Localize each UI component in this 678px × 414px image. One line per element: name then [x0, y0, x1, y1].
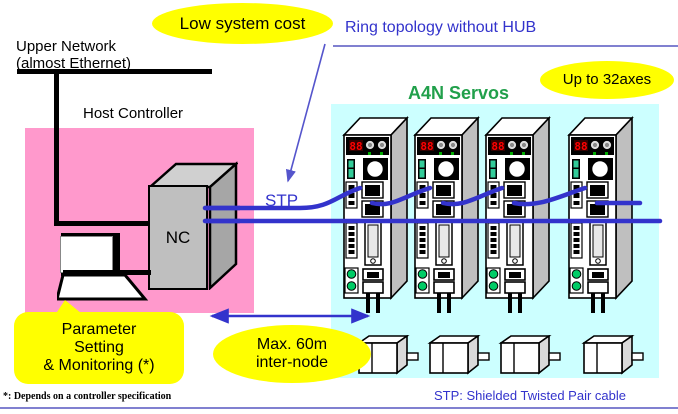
upper-network-drop-line [54, 69, 59, 226]
callout-parameter-line2: Setting [74, 339, 124, 357]
servo-motor-2[interactable] [424, 335, 494, 386]
callout-parameter-line1: Parameter [62, 321, 137, 339]
servo-motor-body [424, 335, 494, 381]
laptop-computer[interactable] [57, 233, 150, 301]
stp-legend-label: STP: Shielded Twisted Pair cable [434, 388, 626, 403]
callout-max-60m-line2: inter-node [256, 354, 328, 372]
a4n-servos-label: A4N Servos [408, 83, 509, 104]
callout-low-system-cost: Low system cost [152, 3, 333, 44]
servo-drive-body: 88 [566, 113, 651, 313]
nc-label: NC [148, 185, 208, 290]
callout-max-60m: Max. 60m inter-node [213, 325, 371, 383]
nc-controller[interactable]: NC [148, 160, 238, 290]
servo-motor-4[interactable] [578, 335, 648, 386]
footer-rule [0, 407, 678, 409]
ring-topology-underline [333, 45, 678, 47]
servo-drive-3[interactable]: 88 [483, 113, 568, 313]
servo-drive-body: 88 [483, 113, 568, 313]
low-cost-pointer-arrow [288, 44, 325, 181]
laptop-to-nc-cable [63, 270, 151, 275]
upper-network-label-line1: Upper Network [16, 38, 116, 55]
svg-text:88: 88 [574, 140, 587, 153]
laptop-screen [60, 236, 113, 273]
ring-topology-label: Ring topology without HUB [345, 19, 536, 37]
upper-network-label: Upper Network(almost Ethernet) [16, 38, 131, 72]
servo-motor-3[interactable] [495, 335, 565, 386]
upper-network-label-line2: (almost Ethernet) [16, 55, 131, 72]
callout-max-60m-line1: Max. 60m [257, 336, 327, 354]
stp-label: STP [265, 191, 298, 211]
callout-parameter-line3: & Monitoring (*) [43, 357, 154, 375]
laptop-base [57, 274, 150, 302]
servo-motor-body [495, 335, 565, 381]
footnote-label: *: Depends on a controller specification [3, 391, 171, 402]
upper-network-elbow-line [54, 221, 154, 226]
svg-text:88: 88 [491, 140, 504, 153]
callout-parameter-setting: Parameter Setting & Monitoring (*) [14, 312, 184, 384]
servo-motor-body [578, 335, 648, 381]
servo-drive-4[interactable]: 88 [566, 113, 651, 313]
svg-text:88: 88 [420, 140, 433, 153]
host-controller-label: Host Controller [83, 105, 183, 122]
callout-up-to-32axes: Up to 32axes [540, 61, 674, 99]
svg-text:88: 88 [349, 140, 362, 153]
